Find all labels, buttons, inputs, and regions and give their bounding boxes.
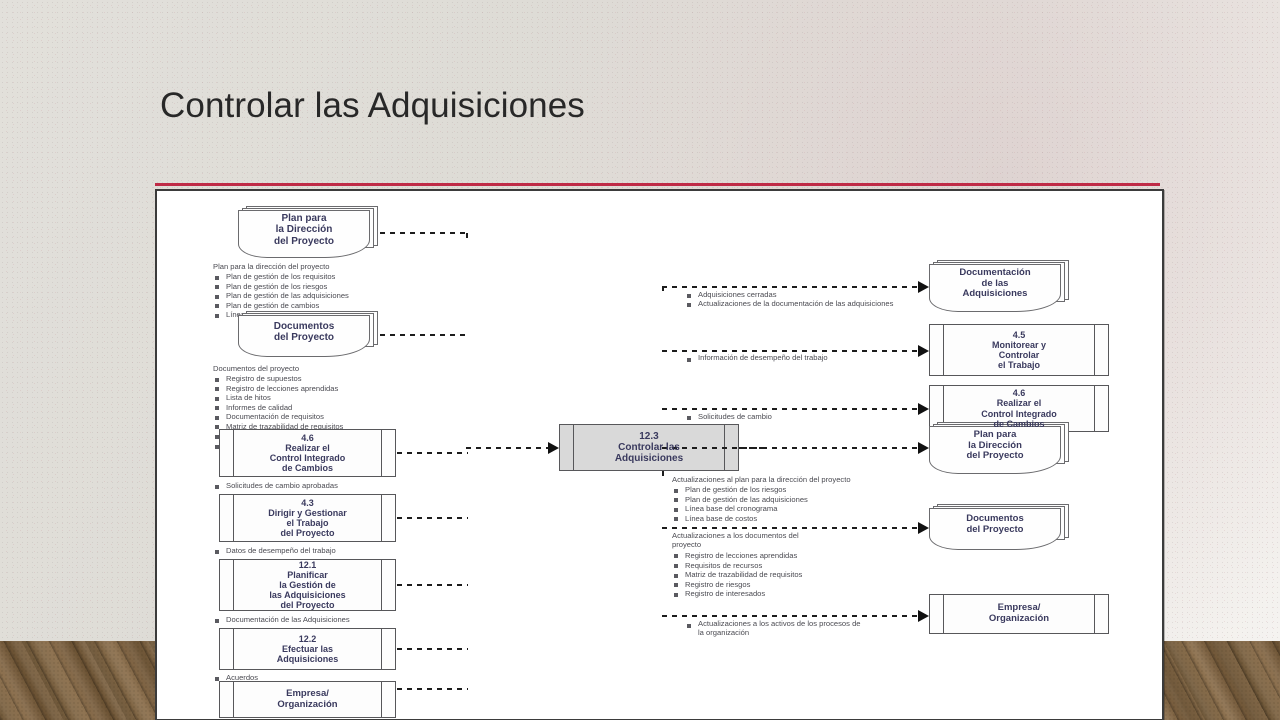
connector-dirigir-gestionar bbox=[397, 517, 468, 519]
list-item: Plan de gestión de cambios bbox=[226, 301, 349, 311]
node-label-line: 4.3 bbox=[301, 498, 314, 508]
node-label-line: Documentos bbox=[966, 513, 1024, 524]
node-documentos-proyecto-out: Documentos del Proyecto bbox=[929, 504, 1069, 550]
node-label: Empresa/ Organización bbox=[261, 689, 353, 710]
node-label: 12.3 Controlar las Adquisiciones bbox=[599, 431, 699, 465]
list-item: Información de desempeño del trabajo bbox=[698, 354, 848, 364]
node-label-line: del Proyecto bbox=[274, 236, 334, 247]
node-label-line: Documentos bbox=[274, 321, 335, 332]
list-item: Documentación de requisitos bbox=[226, 412, 343, 422]
arrow-documentos-proyecto-out bbox=[918, 522, 929, 534]
arrow-plan-direccion-out bbox=[918, 442, 929, 454]
node-label-line: Plan para bbox=[974, 429, 1017, 440]
list-heading: Actualizaciones a los documentos del pro… bbox=[672, 532, 804, 550]
node-label-line: Adquisiciones bbox=[615, 453, 683, 464]
connector-documentacion-adquisiciones bbox=[662, 286, 920, 288]
connector-empresa-organizacion-in bbox=[397, 688, 468, 690]
node-label-line: Monitorear y bbox=[992, 340, 1046, 350]
node-label: Documentación de las Adquisiciones bbox=[929, 264, 1061, 304]
node-label: Documentos del Proyecto bbox=[238, 315, 370, 349]
list-item: Documentación de las Adquisiciones bbox=[226, 615, 350, 625]
list-item: Registro de interesados bbox=[685, 589, 804, 599]
node-efectuar-adquisiciones: 12.2 Efectuar las Adquisiciones bbox=[219, 628, 396, 670]
node-label: Empresa/ Organización bbox=[973, 603, 1065, 624]
connector-efectuar-adquisiciones bbox=[397, 648, 468, 650]
list-item: Plan de gestión de las adquisiciones bbox=[226, 291, 349, 301]
list-heading: Documentos del proyecto bbox=[213, 364, 343, 373]
node-label-line: Adquisiciones bbox=[277, 654, 339, 664]
node-label-line: 4.6 bbox=[301, 433, 314, 443]
output-bus-vertical-lower bbox=[662, 471, 664, 616]
node-label-line: del Proyecto bbox=[966, 450, 1023, 461]
list-item: Plan de gestión de los riesgos bbox=[226, 282, 349, 292]
list-items: Registro de lecciones aprendidas Requisi… bbox=[672, 551, 804, 599]
node-label-line: Control Integrado bbox=[981, 409, 1057, 419]
node-label-line: Realizar el bbox=[997, 398, 1042, 408]
connector-control-integrado-in bbox=[397, 452, 468, 454]
list-item: Requisitos de recursos bbox=[685, 561, 804, 571]
list-item: Plan de gestión de los riesgos bbox=[685, 485, 851, 495]
node-dirigir-gestionar-trabajo: 4.3 Dirigir y Gestionar el Trabajo del P… bbox=[219, 494, 396, 542]
node-documentacion-adquisiciones: Documentación de las Adquisiciones bbox=[929, 260, 1069, 312]
input-bus-vertical bbox=[466, 233, 468, 688]
node-monitorear-controlar-trabajo: 4.5 Monitorear y Controlar el Trabajo bbox=[929, 324, 1109, 376]
list-planificar-gestion-adquisiciones: Documentación de las Adquisiciones bbox=[213, 615, 350, 625]
node-label-line: Organización bbox=[989, 613, 1049, 624]
list-item: Plan de gestión de los requisitos bbox=[226, 272, 349, 282]
node-plan-direccion-proyecto: Plan para la Dirección del Proyecto bbox=[238, 206, 378, 258]
node-label-line: Plan para bbox=[281, 213, 326, 224]
node-label-line: Planificar bbox=[287, 570, 328, 580]
node-plan-direccion-proyecto-out: Plan para la Dirección del Proyecto bbox=[929, 422, 1069, 474]
node-label-line: el Trabajo bbox=[286, 518, 328, 528]
node-label-line: del Proyecto bbox=[280, 600, 334, 610]
connector-monitorear-controlar bbox=[662, 350, 920, 352]
node-label-line: Realizar el bbox=[285, 443, 330, 453]
list-items: Plan de gestión de los riesgos Plan de g… bbox=[672, 485, 851, 523]
node-label-line: Controlar las bbox=[618, 442, 680, 453]
connector-plan-direccion-out bbox=[662, 447, 920, 449]
node-label-line: Empresa/ bbox=[998, 602, 1041, 613]
list-item: Lista de hitos bbox=[226, 393, 343, 403]
list-item: Actualizaciones de la documentación de l… bbox=[698, 300, 912, 310]
node-label: 12.2 Efectuar las Adquisiciones bbox=[261, 634, 355, 664]
diagram-canvas: Plan para la Dirección del Proyecto Plan… bbox=[157, 191, 1162, 719]
list-items: Adquisiciones cerradas Actualizaciones d… bbox=[685, 290, 912, 309]
node-number: 12.3 bbox=[639, 431, 658, 442]
connector-input-to-center bbox=[466, 447, 550, 449]
list-item: Solicitudes de cambio aprobadas bbox=[226, 481, 338, 491]
node-label: Plan para la Dirección del Proyecto bbox=[238, 210, 370, 250]
page-title: Controlar las Adquisiciones bbox=[160, 86, 585, 126]
list-item: Registro de supuestos bbox=[226, 374, 343, 384]
node-documentos-proyecto: Documentos del Proyecto bbox=[238, 311, 378, 357]
node-label: 4.5 Monitorear y Controlar el Trabajo bbox=[976, 330, 1062, 370]
node-label-line: de las bbox=[982, 278, 1009, 289]
node-label-line: del Proyecto bbox=[280, 528, 334, 538]
node-control-integrado-cambios-in: 4.6 Realizar el Control Integrado de Cam… bbox=[219, 429, 396, 477]
node-label: 4.6 Realizar el Control Integrado de Cam… bbox=[965, 388, 1073, 428]
list-dirigir-gestionar-trabajo: Datos de desempeño del trabajo bbox=[213, 546, 336, 556]
list-documentacion-adquisiciones: Adquisiciones cerradas Actualizaciones d… bbox=[685, 290, 912, 309]
node-label-line: del Proyecto bbox=[966, 524, 1023, 535]
list-item: Matriz de trazabilidad de requisitos bbox=[685, 570, 804, 580]
arrow-into-center bbox=[548, 442, 559, 454]
slide: Controlar las Adquisiciones Plan para la… bbox=[0, 0, 1280, 720]
node-label-line: 4.5 bbox=[1013, 330, 1026, 340]
connector-planificar-gestion bbox=[397, 584, 468, 586]
node-label-line: Dirigir y Gestionar bbox=[268, 508, 347, 518]
node-label-line: Empresa/ bbox=[286, 688, 329, 699]
list-items: Información de desempeño del trabajo bbox=[685, 354, 848, 364]
list-items: Documentación de las Adquisiciones bbox=[213, 615, 350, 625]
node-label-line: el Trabajo bbox=[998, 360, 1040, 370]
node-label-line: la Dirección bbox=[276, 224, 333, 235]
node-label-line: la Dirección bbox=[968, 440, 1022, 451]
list-items: Solicitudes de cambio bbox=[685, 412, 772, 422]
node-label: Documentos del Proyecto bbox=[929, 508, 1061, 542]
node-label-line: 4.6 bbox=[1013, 388, 1026, 398]
node-label: Plan para la Dirección del Proyecto bbox=[929, 426, 1061, 466]
node-planificar-gestion-adquisiciones: 12.1 Planificar la Gestión de las Adquis… bbox=[219, 559, 396, 611]
list-item: Línea base de costos bbox=[685, 514, 851, 524]
list-item: Datos de desempeño del trabajo bbox=[226, 546, 336, 556]
list-items: Actualizaciones a los activos de los pro… bbox=[685, 620, 863, 639]
list-item: Informes de calidad bbox=[226, 403, 343, 413]
node-label-line: Documentación bbox=[959, 267, 1030, 278]
list-items: Solicitudes de cambio aprobadas bbox=[213, 481, 338, 491]
arrow-control-integrado-out bbox=[918, 403, 929, 415]
list-control-integrado-out: Solicitudes de cambio bbox=[685, 412, 772, 422]
list-item: Registro de lecciones aprendidas bbox=[685, 551, 804, 561]
list-item: Línea base del cronograma bbox=[685, 504, 851, 514]
node-label-line: las Adquisiciones bbox=[269, 590, 345, 600]
list-plan-direccion-out: Actualizaciones al plan para la direcció… bbox=[672, 475, 851, 523]
node-label-line: del Proyecto bbox=[274, 332, 334, 343]
connector-documentos-proyecto bbox=[380, 334, 468, 336]
accent-rule bbox=[155, 183, 1160, 186]
arrow-documentacion-adquisiciones bbox=[918, 281, 929, 293]
node-label-line: 12.2 bbox=[299, 634, 317, 644]
arrow-empresa-organizacion-out bbox=[918, 610, 929, 622]
list-item: Solicitudes de cambio bbox=[698, 412, 772, 422]
connector-control-integrado-out bbox=[662, 408, 920, 410]
arrow-monitorear-controlar bbox=[918, 345, 929, 357]
list-item: Actualizaciones a los activos de los pro… bbox=[698, 620, 863, 639]
connector-plan-direccion bbox=[380, 232, 468, 234]
node-label: 4.6 Realizar el Control Integrado de Cam… bbox=[254, 433, 362, 473]
list-documentos-proyecto-out: Actualizaciones a los documentos del pro… bbox=[672, 532, 804, 599]
node-label-line: 12.1 bbox=[299, 560, 317, 570]
node-label-line: Efectuar las bbox=[282, 644, 333, 654]
node-label-line: Controlar bbox=[999, 350, 1040, 360]
list-item: Registro de riesgos bbox=[685, 580, 804, 590]
node-label: 12.1 Planificar la Gestión de las Adquis… bbox=[253, 560, 361, 610]
list-item: Plan de gestión de las adquisiciones bbox=[685, 495, 851, 505]
list-empresa-organizacion-out: Actualizaciones a los activos de los pro… bbox=[685, 620, 863, 639]
node-label-line: la Gestión de bbox=[279, 580, 336, 590]
node-label-line: Adquisiciones bbox=[963, 288, 1028, 299]
list-heading: Plan para la dirección del proyecto bbox=[213, 262, 349, 271]
connector-documentos-proyecto-out bbox=[662, 527, 920, 529]
node-label-line: Control Integrado bbox=[270, 453, 346, 463]
node-empresa-organizacion-out: Empresa/ Organización bbox=[929, 594, 1109, 634]
connector-empresa-organizacion-out bbox=[662, 615, 920, 617]
list-heading: Actualizaciones al plan para la direcció… bbox=[672, 475, 851, 484]
node-label: 4.3 Dirigir y Gestionar el Trabajo del P… bbox=[252, 498, 363, 538]
node-label-line: Organización bbox=[277, 699, 337, 710]
node-label-line: de Cambios bbox=[282, 463, 333, 473]
diagram-frame: Plan para la Dirección del Proyecto Plan… bbox=[155, 189, 1164, 720]
list-item: Registro de lecciones aprendidas bbox=[226, 384, 343, 394]
list-items: Datos de desempeño del trabajo bbox=[213, 546, 336, 556]
list-control-integrado-cambios-in: Solicitudes de cambio aprobadas bbox=[213, 481, 338, 491]
list-monitorear-controlar: Información de desempeño del trabajo bbox=[685, 354, 848, 364]
